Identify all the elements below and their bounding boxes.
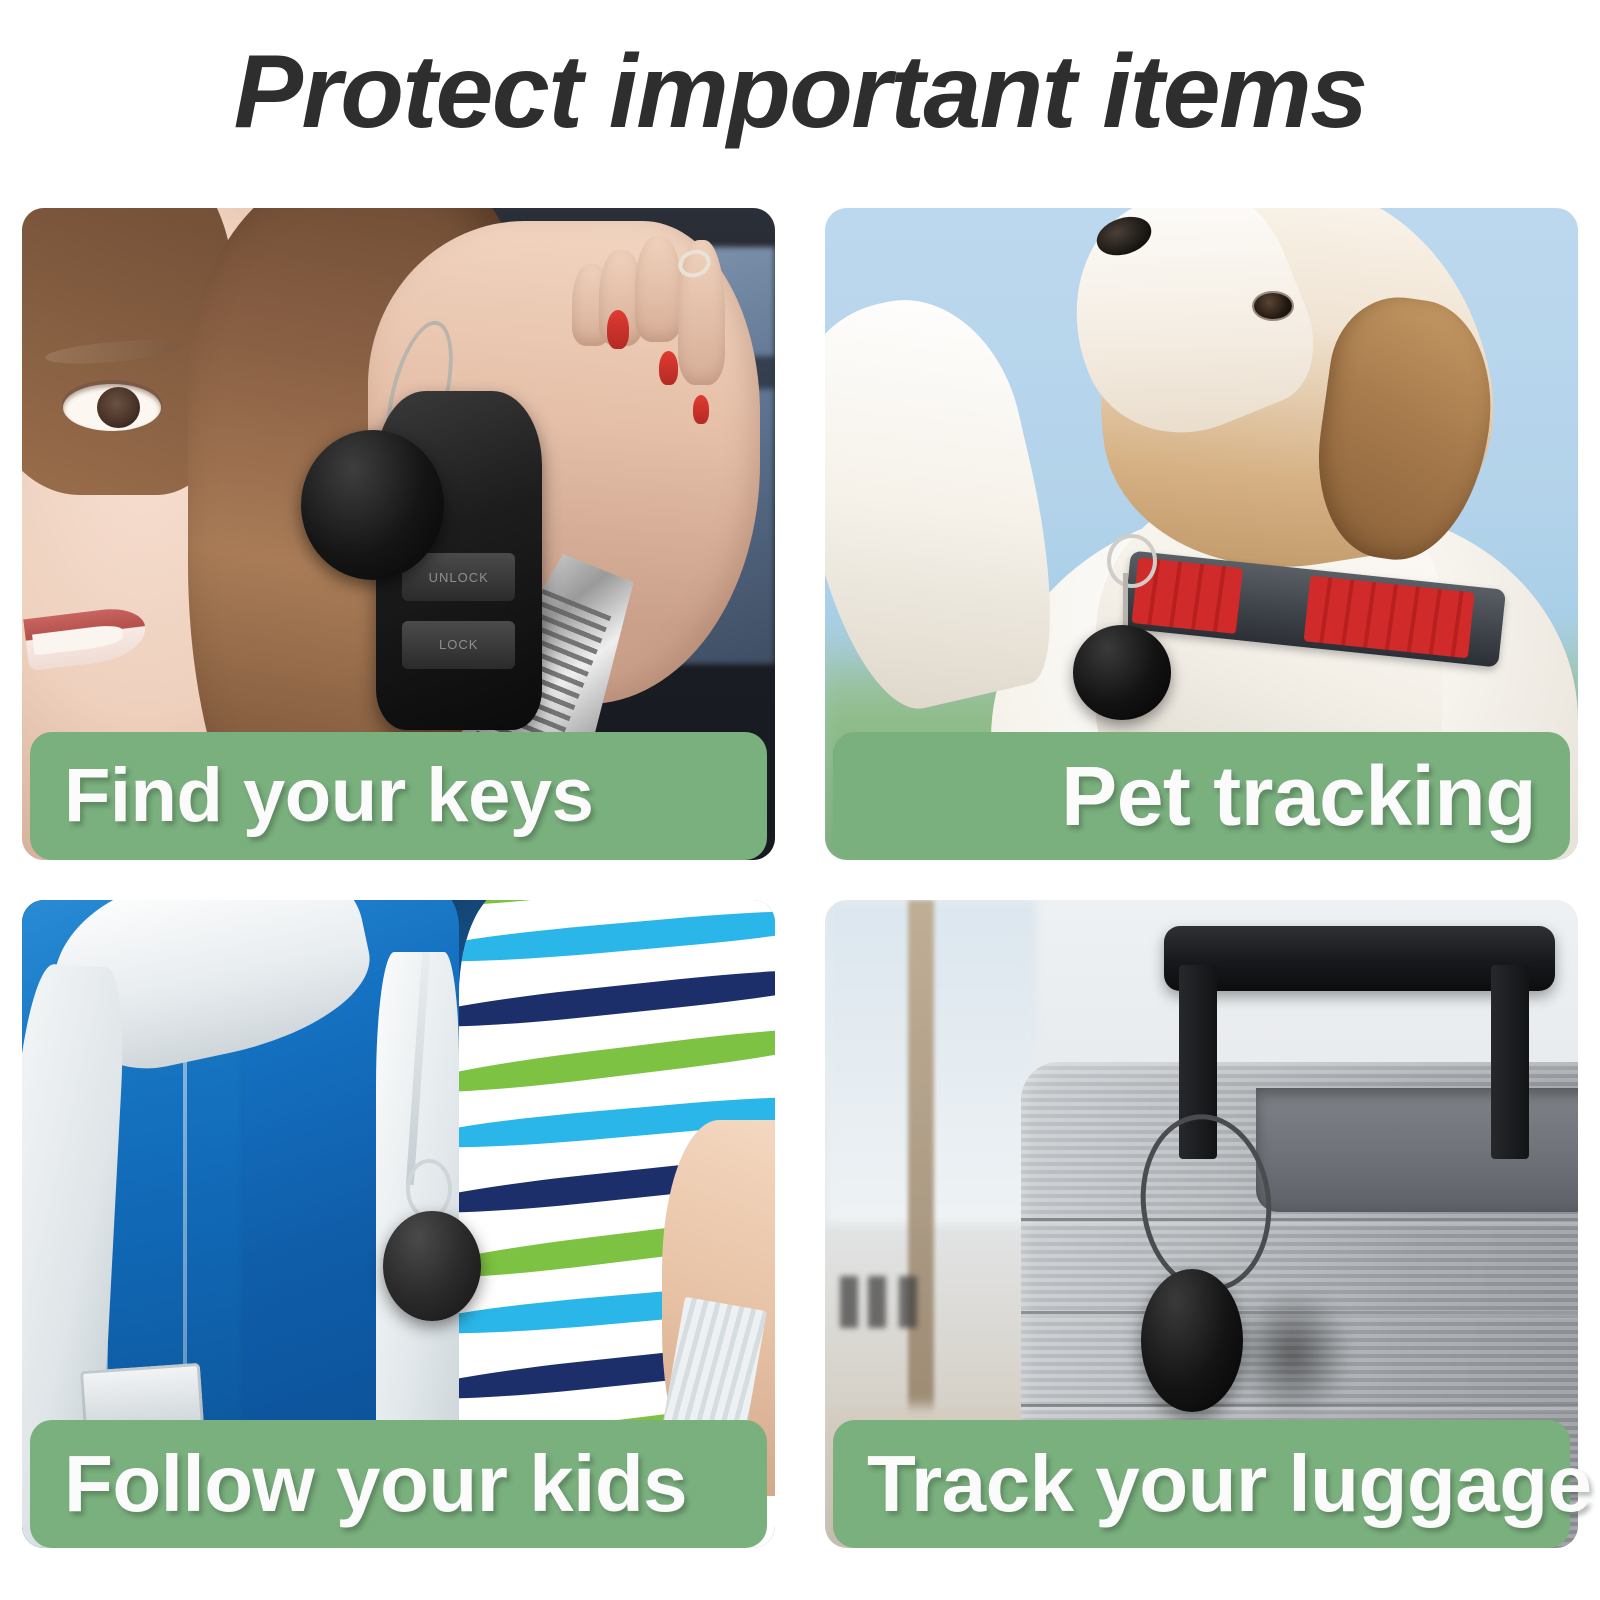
feature-card-pet-tracking[interactable]: Pet tracking <box>825 208 1578 860</box>
caption-label: Follow your kids <box>64 1444 687 1524</box>
feature-grid: UNLOCK LOCK Find your keys <box>22 208 1578 1548</box>
feature-card-find-your-keys[interactable]: UNLOCK LOCK Find your keys <box>22 208 775 860</box>
dog-paw-shape <box>825 279 1078 724</box>
caption-band-find-your-keys: Find your keys <box>30 732 767 860</box>
blurred-aircraft-shape <box>840 1276 968 1328</box>
finger-shape <box>635 236 682 342</box>
handle-recess-shape <box>1256 1088 1578 1212</box>
caption-label: Track your luggage <box>867 1444 1592 1524</box>
red-fingernail-shape <box>607 310 629 349</box>
feature-card-follow-your-kids[interactable]: Follow your kids <box>22 900 775 1548</box>
caption-band-pet-tracking: Pet tracking <box>833 732 1570 860</box>
tracker-tag-shape <box>1141 1269 1243 1412</box>
caption-label: Pet tracking <box>1061 754 1536 838</box>
tracker-tag-shape <box>1073 625 1171 720</box>
promo-graphic: Protect important items <box>0 0 1600 1600</box>
dog-eye-shape <box>1254 293 1292 319</box>
red-fingernail-shape <box>693 395 709 424</box>
fob-lock-button: LOCK <box>402 621 515 668</box>
caption-band-follow-your-kids: Follow your kids <box>30 1420 767 1548</box>
feature-card-track-your-luggage[interactable]: Track your luggage <box>825 900 1578 1548</box>
woman-eye-shape <box>63 384 161 431</box>
tag-ring-shape <box>406 1159 452 1219</box>
tracker-tag-shape <box>301 430 444 580</box>
tracker-tag-shape <box>383 1211 481 1321</box>
collar-d-ring-shape <box>1107 534 1156 588</box>
tag-shadow-shape <box>1232 1289 1352 1419</box>
suitcase-handle-leg-shape <box>1491 965 1529 1159</box>
caption-label: Find your keys <box>64 758 593 834</box>
caption-band-track-your-luggage: Track your luggage <box>833 1420 1570 1548</box>
red-fingernail-shape <box>659 351 678 385</box>
suitcase-rib-shape <box>1021 1218 1578 1221</box>
page-title: Protect important items <box>0 34 1600 150</box>
